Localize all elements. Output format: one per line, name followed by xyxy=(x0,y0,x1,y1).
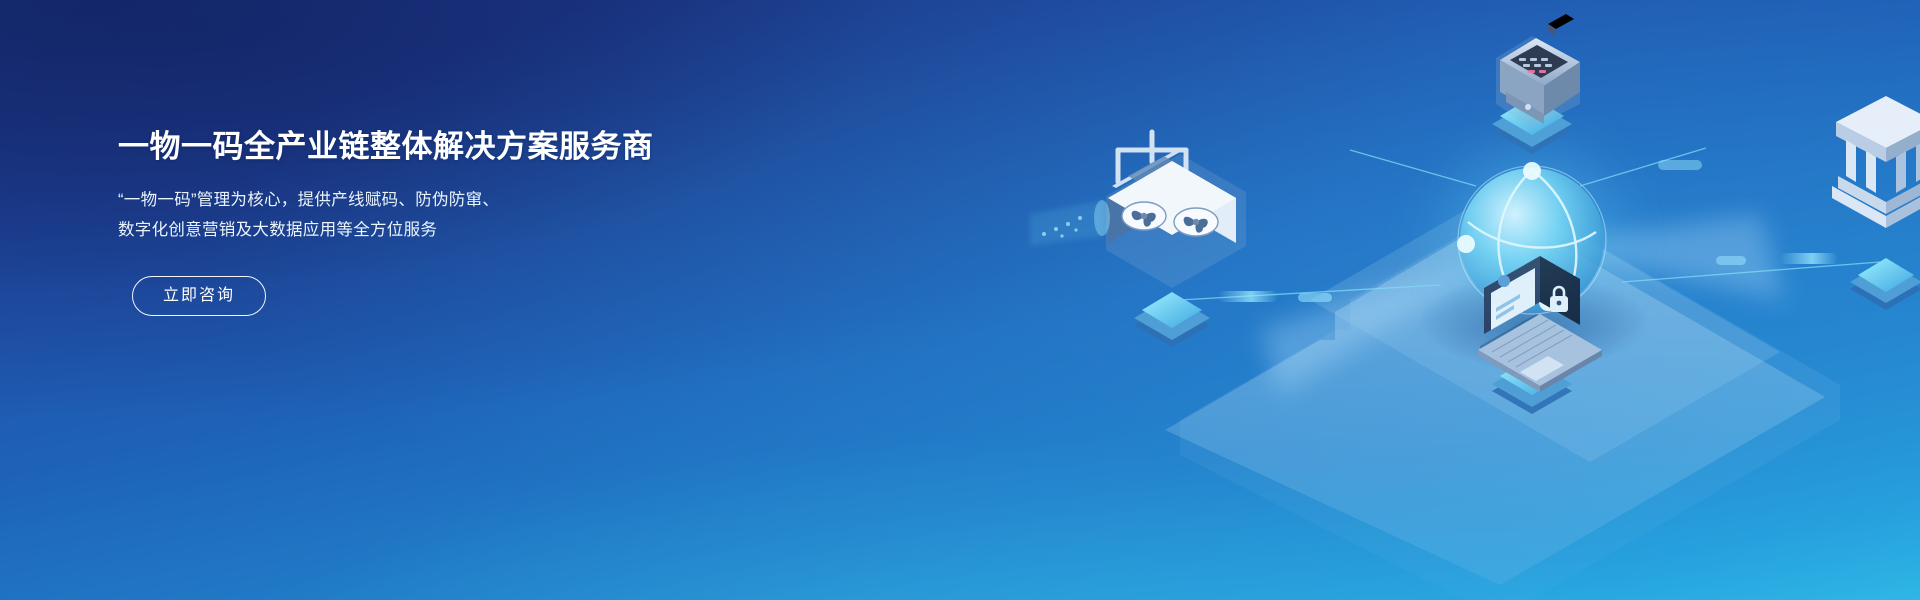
hero-banner: 一物一码全产业链整体解决方案服务商 “一物一码”管理为核心，提供产线赋码、防伪防… xyxy=(0,0,1920,600)
globe-outer-glow xyxy=(1382,90,1682,390)
bank-building xyxy=(1832,96,1920,228)
pedestal-right xyxy=(1850,258,1920,310)
cooling-fan-server xyxy=(1030,132,1246,288)
page-title: 一物一码全产业链整体解决方案服务商 xyxy=(118,128,758,167)
hero-subtitle-line-1: “一物一码”管理为核心，提供产线赋码、防伪防窜、 xyxy=(118,185,758,215)
pedestal-left xyxy=(1134,292,1210,347)
hero-illustration xyxy=(880,0,1920,600)
hero-subtitle: “一物一码”管理为核心，提供产线赋码、防伪防窜、 数字化创意营销及大数据应用等全… xyxy=(118,185,758,245)
hero-copy: 一物一码全产业链整体解决方案服务商 “一物一码”管理为核心，提供产线赋码、防伪防… xyxy=(118,128,758,316)
hero-subtitle-line-2: 数字化创意营销及大数据应用等全方位服务 xyxy=(118,215,758,245)
consult-now-button[interactable]: 立即咨询 xyxy=(132,276,266,316)
airflow-cone xyxy=(1030,200,1110,246)
